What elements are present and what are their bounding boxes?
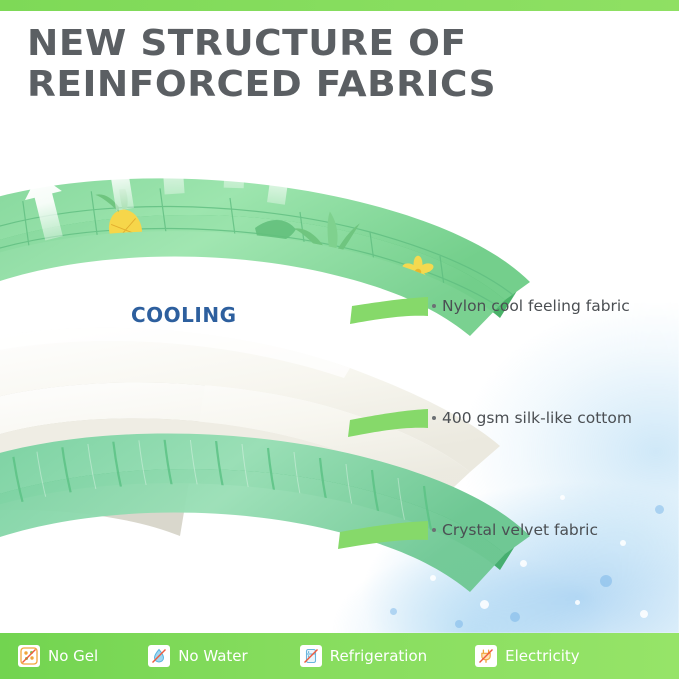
ice-speckle [480, 600, 489, 609]
page-title: NEW STRUCTURE OF REINFORCED FABRICS [27, 23, 679, 105]
ice-dot [600, 575, 612, 587]
callout-label-velvet: Crystal velvet fabric [432, 521, 598, 539]
top-accent-bar [0, 0, 679, 11]
refrigerator-icon [300, 645, 322, 667]
water-drop-icon [148, 645, 170, 667]
ice-speckle [560, 495, 565, 500]
ice-speckle [520, 560, 527, 567]
ice-dot [390, 608, 397, 615]
gel-dots-icon [18, 645, 40, 667]
page-title-line-2: REINFORCED FABRICS [27, 64, 679, 105]
product-infographic: NEW STRUCTURE OF REINFORCED FABRICS [0, 0, 679, 679]
feature-label: No Water [178, 647, 248, 665]
feature-label: Refrigeration [330, 647, 427, 665]
callout-bullet-icon [432, 304, 436, 308]
cooling-label: COOLING [131, 303, 237, 327]
ice-speckle [575, 600, 580, 605]
ice-speckle [640, 610, 648, 618]
callout-label-cotton: 400 gsm silk-like cottom [432, 409, 632, 427]
electric-plug-icon [475, 645, 497, 667]
ice-dot [510, 612, 520, 622]
feature-bar: No Gel No Water [0, 633, 679, 679]
feature-label: No Gel [48, 647, 98, 665]
feature-no-water: No Water [148, 645, 248, 667]
feature-electricity: Electricity [475, 645, 580, 667]
callout-bullet-icon [432, 416, 436, 420]
callout-text: Crystal velvet fabric [442, 521, 598, 539]
callout-text: 400 gsm silk-like cottom [442, 409, 632, 427]
feature-refrigeration: Refrigeration [300, 645, 427, 667]
page-title-line-1: NEW STRUCTURE OF [27, 23, 467, 64]
callout-text: Nylon cool feeling fabric [442, 297, 630, 315]
callout-label-nylon: Nylon cool feeling fabric [432, 297, 630, 315]
ice-dot [655, 505, 664, 514]
ice-speckle [620, 540, 626, 546]
ice-dot [455, 620, 463, 628]
feature-label: Electricity [505, 647, 580, 665]
feature-no-gel: No Gel [18, 645, 98, 667]
ice-texture-background [219, 180, 679, 633]
ice-speckle [430, 575, 436, 581]
callout-bullet-icon [432, 528, 436, 532]
